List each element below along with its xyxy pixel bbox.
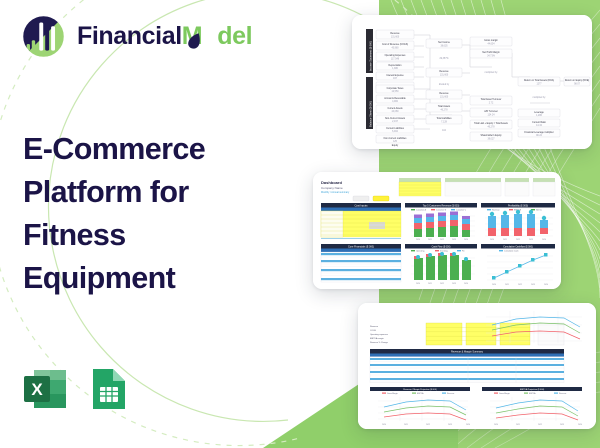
svg-text:38,635: 38,635 — [440, 46, 448, 48]
svg-text:Leverage: Leverage — [534, 111, 544, 114]
svg-text:Revenue: Revenue — [492, 210, 500, 212]
svg-text:Accounts Receivable: Accounts Receivable — [384, 97, 406, 100]
svg-text:multiplied by: multiplied by — [533, 96, 547, 99]
svg-text:2024: 2024 — [464, 239, 468, 241]
svg-text:X: X — [31, 380, 43, 399]
svg-text:12,550: 12,550 — [391, 91, 399, 93]
brand-name-del: del — [217, 24, 252, 49]
svg-text:2023: 2023 — [448, 424, 452, 426]
financial-dashboard-card[interactable]: Dashboard Company Name Monthly / Annual … — [313, 172, 561, 289]
svg-text:Investing: Investing — [440, 250, 448, 253]
svg-text:98.07: 98.07 — [574, 84, 580, 86]
svg-text:29,357%: 29,357% — [439, 58, 448, 60]
svg-text:117,548: 117,548 — [391, 59, 400, 61]
svg-text:2022: 2022 — [518, 284, 522, 286]
promo-cover-canvas: Financial M del E-Commerce Platform for … — [0, 0, 600, 448]
svg-text:44,654: 44,654 — [487, 44, 495, 46]
svg-text:Fin: Fin — [462, 251, 465, 253]
svg-text:Revenue: Revenue — [390, 33, 400, 35]
svg-text:Revenue & Margin Summary: Revenue & Margin Summary — [451, 350, 484, 353]
svg-text:2022: 2022 — [426, 424, 430, 426]
svg-text:Cost of Revenue (COGS): Cost of Revenue (COGS) — [382, 43, 408, 46]
svg-text:Monthly / Annual summary: Monthly / Annual summary — [321, 191, 350, 194]
excel-icon[interactable]: X — [22, 366, 68, 412]
svg-text:Company Name: Company Name — [321, 186, 343, 190]
file-format-icons: X — [22, 366, 129, 412]
svg-text:131,600: 131,600 — [440, 97, 449, 99]
svg-text:Cumulative Cashflow ($ 000): Cumulative Cashflow ($ 000) — [503, 245, 533, 248]
svg-text:2021: 2021 — [404, 424, 408, 426]
headline-line-1: E-Commerce — [23, 132, 205, 166]
svg-text:Corporate Taxes: Corporate Taxes — [387, 87, 405, 90]
svg-text:Customer B: Customer B — [436, 209, 447, 212]
svg-text:2,197: 2,197 — [392, 121, 398, 123]
svg-text:2020: 2020 — [492, 284, 496, 286]
dupont-analysis-card[interactable]: Income Statement ($ 000) Balance Sheet (… — [352, 15, 592, 149]
svg-text:124.24: 124.24 — [487, 115, 495, 117]
svg-text:2021: 2021 — [503, 239, 507, 241]
svg-text:46,278: 46,278 — [487, 127, 495, 129]
svg-text:Total Liab + Equity = Total As: Total Liab + Equity = Total Assets — [474, 122, 509, 125]
svg-text:2022: 2022 — [440, 239, 444, 241]
svg-text:2023: 2023 — [560, 424, 564, 426]
svg-text:Operating Expenses: Operating Expenses — [385, 54, 407, 57]
svg-text:Non-Current Liabilities: Non-Current Liabilities — [384, 137, 408, 140]
revenue-margin-card[interactable]: Revenue COGS Operating expenses EBITDA m… — [358, 303, 596, 429]
headline-line-3: Fitness — [23, 218, 126, 252]
svg-text:Customer A: Customer A — [416, 209, 427, 212]
svg-text:2023: 2023 — [452, 283, 456, 285]
svg-text:Current Ratio: Current Ratio — [532, 121, 546, 124]
svg-text:Revenue % Change: Revenue % Change — [370, 342, 389, 344]
svg-text:2022: 2022 — [516, 239, 520, 241]
svg-text:2023: 2023 — [531, 284, 535, 286]
svg-text:1277: 1277 — [536, 84, 542, 86]
svg-text:39,027: 39,027 — [487, 139, 495, 141]
svg-text:Return on Equity (ROE): Return on Equity (ROE) — [565, 79, 589, 82]
svg-text:divided by: divided by — [439, 84, 450, 86]
svg-text:Total Asset Turnover: Total Asset Turnover — [481, 98, 502, 101]
svg-text:4,082: 4,082 — [392, 101, 398, 103]
brand-name-financial: Financial — [77, 24, 182, 49]
svg-text:2024: 2024 — [544, 284, 548, 286]
svg-text:EBITDA: EBITDA — [529, 392, 536, 395]
headline-line-4: Equipment — [23, 261, 175, 295]
svg-text:131,600: 131,600 — [391, 37, 400, 39]
brand-logo-group[interactable]: Financial M del — [21, 14, 252, 59]
svg-text:2020: 2020 — [494, 424, 498, 426]
svg-text:Revenue: Revenue — [370, 326, 379, 328]
svg-text:2021: 2021 — [505, 284, 509, 286]
svg-text:Revenue: Revenue — [447, 393, 454, 395]
svg-text:131,600: 131,600 — [440, 75, 449, 77]
svg-text:Return on Total Assets (ROA): Return on Total Assets (ROA) — [524, 79, 554, 82]
svg-text:46,278: 46,278 — [440, 110, 448, 112]
svg-text:COGS: COGS — [370, 330, 377, 332]
svg-text:2021: 2021 — [428, 239, 432, 241]
svg-text:Gross Margin: Gross Margin — [499, 393, 510, 395]
svg-text:Net Income: Net Income — [438, 41, 450, 44]
svg-text:2023: 2023 — [529, 239, 533, 241]
svg-text:Income Statement ($ 000): Income Statement ($ 000) — [369, 41, 373, 71]
dupont-tree-screenshot: Income Statement ($ 000) Balance Sheet (… — [352, 15, 592, 149]
svg-text:2022: 2022 — [538, 424, 542, 426]
svg-text:EBITDA Projection ($ 000): EBITDA Projection ($ 000) — [520, 388, 545, 391]
svg-text:Gross Margin: Gross Margin — [387, 393, 398, 395]
dashboard-screenshot: Dashboard Company Name Monthly / Annual … — [313, 172, 561, 289]
svg-text:Total Liabilities: Total Liabilities — [437, 117, 453, 120]
svg-text:2.72: 2.72 — [489, 103, 494, 105]
svg-text:2024: 2024 — [542, 239, 546, 241]
svg-text:A/R Turnover: A/R Turnover — [484, 110, 498, 113]
svg-text:Revenue: Revenue — [439, 71, 449, 73]
svg-text:Non-Current Assets: Non-Current Assets — [385, 117, 406, 120]
svg-text:2024: 2024 — [466, 424, 470, 426]
svg-text:Cost Inputs: Cost Inputs — [354, 203, 368, 207]
svg-text:34.73%: 34.73% — [487, 56, 495, 58]
svg-text:2021: 2021 — [428, 283, 432, 285]
svg-text:Equity: Equity — [392, 144, 399, 147]
svg-text:Financial Leverage multiplier: Financial Leverage multiplier — [524, 131, 553, 134]
svg-text:multiplied by: multiplied by — [485, 71, 499, 74]
svg-text:2020: 2020 — [490, 239, 494, 241]
svg-text:EBITDA: EBITDA — [417, 392, 424, 395]
svg-text:Interest Expense: Interest Expense — [386, 74, 404, 77]
svg-text:Operating: Operating — [416, 250, 424, 253]
svg-text:44,080: 44,080 — [391, 111, 399, 113]
svg-text:Current Assets: Current Assets — [387, 107, 403, 110]
svg-text:6,002: 6,002 — [392, 131, 398, 133]
svg-text:Current Liabilities: Current Liabilities — [386, 127, 405, 130]
svg-text:Core Financials ($ 000): Core Financials ($ 000) — [348, 245, 374, 248]
svg-text:Shareholder's Equity: Shareholder's Equity — [480, 134, 502, 137]
svg-text:45,980: 45,980 — [391, 48, 399, 50]
svg-text:Operating expenses: Operating expenses — [370, 333, 388, 336]
revenue-margin-screenshot: Revenue COGS Operating expenses EBITDA m… — [358, 303, 596, 429]
svg-text:1,286: 1,286 — [536, 115, 542, 117]
svg-text:Cash Flow ($ 000): Cash Flow ($ 000) — [432, 246, 451, 248]
svg-text:2024: 2024 — [464, 283, 468, 285]
svg-text:2024: 2024 — [578, 424, 582, 426]
brand-wordmark: Financial M del — [77, 24, 252, 49]
svg-text:EBITDA margin: EBITDA margin — [370, 337, 384, 340]
svg-text:2023: 2023 — [452, 239, 456, 241]
svg-text:Customer C: Customer C — [456, 209, 467, 212]
svg-text:Top 5 Customers Revenue ($ 000: Top 5 Customers Revenue ($ 000) — [423, 204, 460, 207]
svg-text:2020: 2020 — [416, 283, 420, 285]
svg-text:Dashboard: Dashboard — [321, 180, 342, 185]
svg-text:14.34: 14.34 — [536, 125, 542, 127]
svg-text:Depreciation: Depreciation — [389, 64, 403, 67]
svg-text:2020: 2020 — [416, 239, 420, 241]
financial-model-logo-icon — [21, 14, 66, 59]
google-sheets-icon[interactable] — [89, 366, 129, 412]
leaf-drop-icon — [186, 31, 202, 50]
svg-text:1,380: 1,380 — [392, 68, 398, 70]
svg-text:Cumulative Cash: Cumulative Cash — [504, 250, 518, 253]
svg-text:Net Inc: Net Inc — [536, 209, 542, 212]
svg-text:2022: 2022 — [440, 283, 444, 285]
svg-text:Revenue / Margin Projection ($: Revenue / Margin Projection ($ 000) — [403, 388, 437, 391]
svg-text:90.22: 90.22 — [536, 135, 542, 137]
svg-text:Profitability ($ 000): Profitability ($ 000) — [508, 204, 528, 207]
svg-text:Total Assets: Total Assets — [438, 105, 451, 108]
svg-text:Revenue: Revenue — [559, 393, 566, 395]
svg-text:Net Profit Margin: Net Profit Margin — [482, 51, 500, 54]
svg-text:Gross margin: Gross margin — [484, 39, 499, 42]
page-title: E-Commerce Platform for Fitness Equipmen… — [23, 128, 283, 300]
svg-text:2020: 2020 — [382, 424, 386, 426]
svg-text:2021: 2021 — [516, 424, 520, 426]
svg-text:Revenue: Revenue — [439, 93, 449, 95]
headline-line-2: Platform for — [23, 175, 189, 209]
svg-text:Balance Sheet ($ 000): Balance Sheet ($ 000) — [369, 101, 373, 127]
svg-text:7,128: 7,128 — [441, 122, 447, 124]
